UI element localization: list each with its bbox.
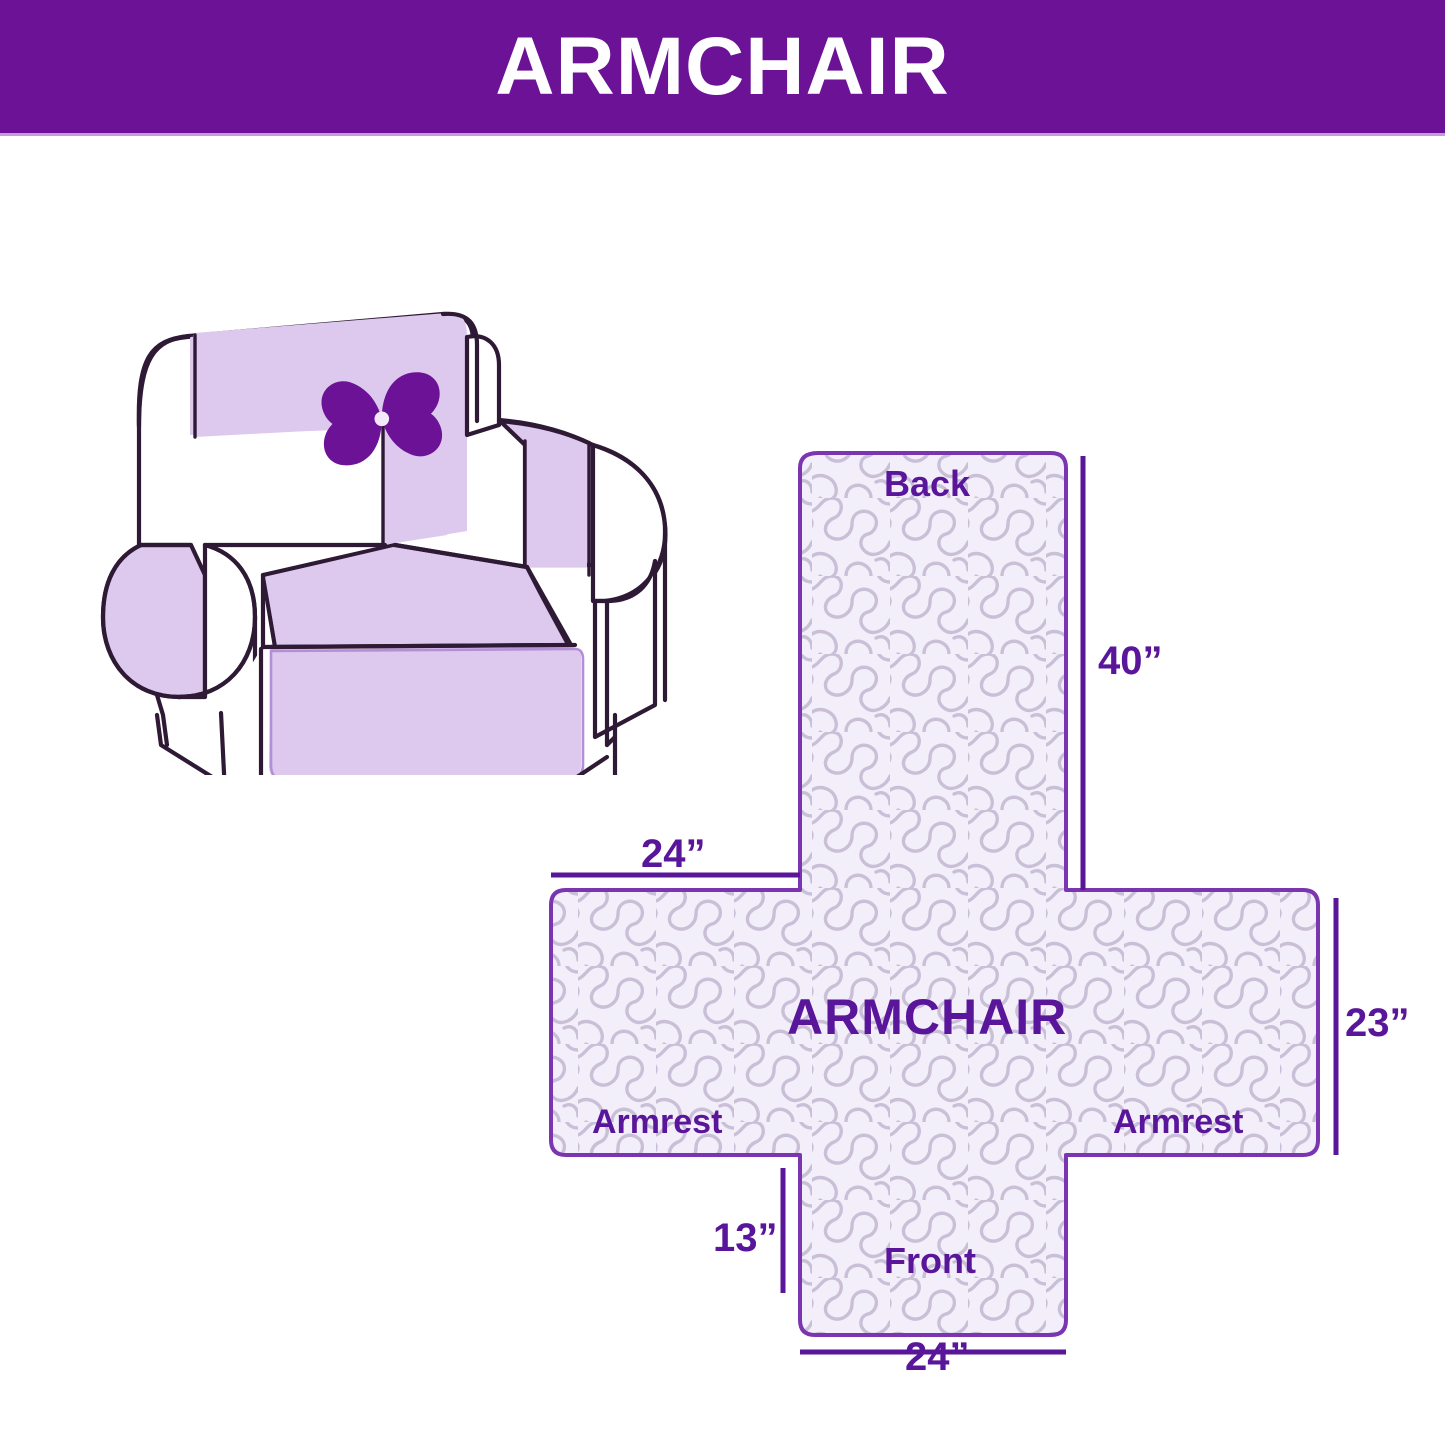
panel-label-back: Back — [884, 466, 970, 502]
dimension-label-front-height: 13” — [713, 1218, 778, 1258]
dimension-label-front-width: 24” — [905, 1337, 970, 1377]
product-dimension-diagram-page: ARMCHAIR .ln { fill:none; stroke:#2E1A35… — [0, 0, 1445, 1445]
dimension-label-back-height: 40” — [1098, 641, 1163, 681]
page-title: ARMCHAIR — [495, 26, 949, 108]
panel-label-front: Front — [884, 1243, 976, 1279]
panel-label-armrest-left: Armrest — [592, 1105, 722, 1139]
panel-label-armrest-right: Armrest — [1113, 1105, 1243, 1139]
cover-outline — [551, 453, 1318, 1335]
dimension-label-armrest-width: 24” — [641, 834, 706, 874]
panel-label-center: ARMCHAIR — [787, 992, 1067, 1042]
header-divider — [0, 133, 1445, 136]
dimension-label-center-height: 23” — [1345, 1003, 1410, 1043]
header-banner: ARMCHAIR — [0, 0, 1445, 133]
